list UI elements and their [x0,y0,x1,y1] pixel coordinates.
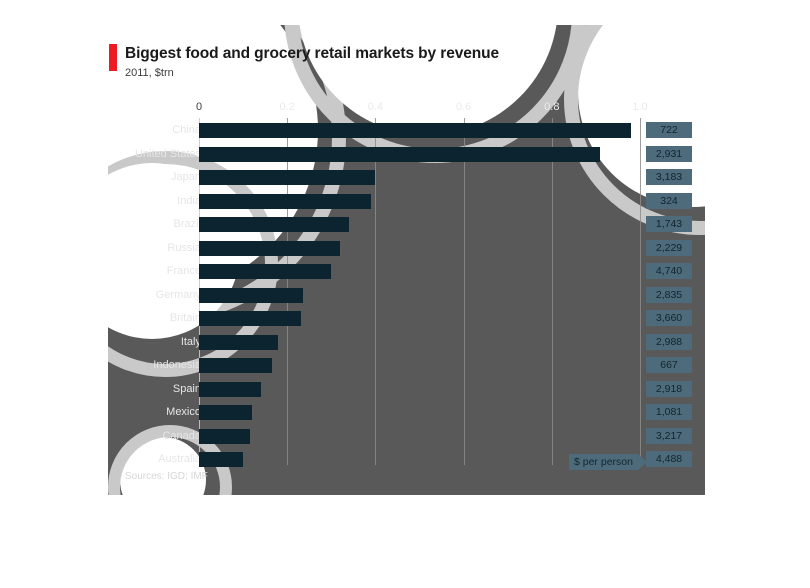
value-badge-japan: 3,183 [646,169,692,185]
chart-row: Russia2,229 [108,239,705,263]
bar-france [199,264,331,279]
value-badge-spain: 2,918 [646,381,692,397]
value-badge-india: 324 [646,193,692,209]
category-label-australia: Australia [158,453,201,465]
category-label-japan: Japan [171,171,201,183]
value-badge-indonesia: 667 [646,357,692,373]
category-label-mexico: Mexico [166,406,201,418]
chart-row: United States2,931 [108,145,705,169]
bar-australia [199,452,243,467]
bar-japan [199,170,375,185]
chart-row: Italy2,988 [108,333,705,357]
value-badge-britain: 3,660 [646,310,692,326]
legend-arrow-icon [638,454,647,470]
value-badge-china: 722 [646,122,692,138]
bar-canada [199,429,250,444]
value-badge-canada: 3,217 [646,428,692,444]
bar-russia [199,241,340,256]
x-axis-tick-label: 0.2 [280,101,295,113]
category-label-indonesia: Indonesia [153,359,201,371]
x-axis-tick-label: 1.0 [632,101,647,113]
bar-brazil [199,217,349,232]
bar-mexico [199,405,252,420]
category-label-china: China [172,124,201,136]
category-label-spain: Spain [173,383,201,395]
chart-row: Germany2,835 [108,286,705,310]
chart-row: France4,740 [108,262,705,286]
bar-india [199,194,371,209]
value-badge-united-states: 2,931 [646,146,692,162]
bar-germany [199,288,303,303]
x-axis-tick-label: 0.6 [456,101,471,113]
value-badge-brazil: 1,743 [646,216,692,232]
chart-row: Brazil1,743 [108,215,705,239]
chart-row: Britain3,660 [108,309,705,333]
bar-china [199,123,631,138]
category-label-brazil: Brazil [173,218,201,230]
category-label-britain: Britain [170,312,201,324]
chart-row: Japan3,183 [108,168,705,192]
chart-row: Mexico1,081 [108,403,705,427]
plot-area: 00.20.40.60.81.0China722United States2,9… [108,25,705,495]
category-label-italy: Italy [181,336,201,348]
accent-bar [109,44,117,71]
value-badge-germany: 2,835 [646,287,692,303]
value-badge-mexico: 1,081 [646,404,692,420]
chart-row: China722 [108,121,705,145]
chart-row: Indonesia667 [108,356,705,380]
bar-britain [199,311,301,326]
category-label-united-states: United States [135,148,201,160]
sources-note: Sources: IGD; IMF [125,471,208,482]
value-badge-italy: 2,988 [646,334,692,350]
category-label-india: India [177,195,201,207]
bar-indonesia [199,358,272,373]
category-label-germany: Germany [156,289,201,301]
page-title: Biggest food and grocery retail markets … [125,45,499,63]
value-badge-russia: 2,229 [646,240,692,256]
legend-label: $ per person [569,454,638,470]
value-badge-australia: 4,488 [646,451,692,467]
bar-spain [199,382,261,397]
category-label-canada: Canada [162,430,201,442]
value-badge-france: 4,740 [646,263,692,279]
bar-united-states [199,147,600,162]
category-label-russia: Russia [167,242,201,254]
x-axis-tick-label: 0.8 [544,101,559,113]
chart-row: India324 [108,192,705,216]
x-axis-tick-label: 0 [196,101,202,113]
chart-subtitle: 2011, $trn [125,67,174,79]
bar-italy [199,335,278,350]
x-axis-tick-label: 0.4 [368,101,383,113]
chart-panel: Biggest food and grocery retail markets … [108,25,705,495]
chart-row: Spain2,918 [108,380,705,404]
chart-row: Canada3,217 [108,427,705,451]
category-label-france: France [167,265,201,277]
